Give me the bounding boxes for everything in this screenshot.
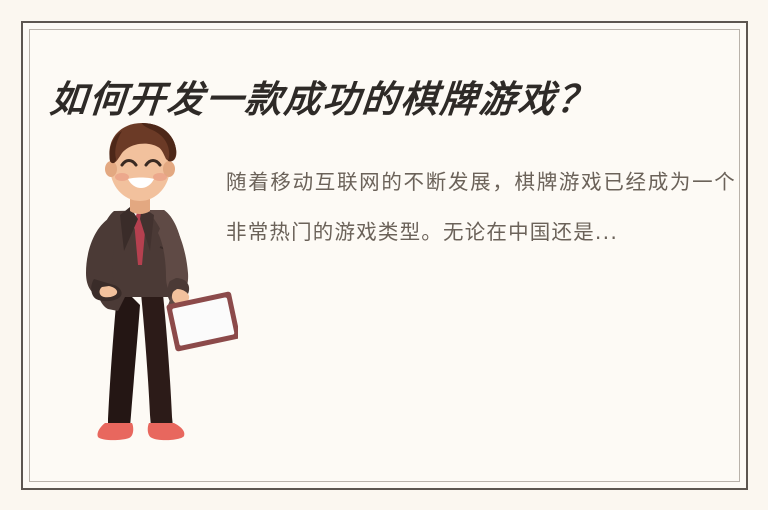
ear-left bbox=[105, 161, 117, 177]
businessman-illustration bbox=[78, 115, 238, 445]
article-card: 如何开发一款成功的棋牌游戏？ bbox=[21, 21, 748, 490]
cheek-right bbox=[153, 173, 167, 181]
cheek-left bbox=[115, 173, 129, 181]
article-excerpt: 随着移动互联网的不断发展，棋牌游戏已经成为一个非常热门的游戏类型。无论在中国还是… bbox=[226, 157, 736, 257]
trouser-right bbox=[140, 283, 173, 427]
shoe-left bbox=[97, 423, 133, 440]
shoe-right bbox=[148, 423, 185, 440]
